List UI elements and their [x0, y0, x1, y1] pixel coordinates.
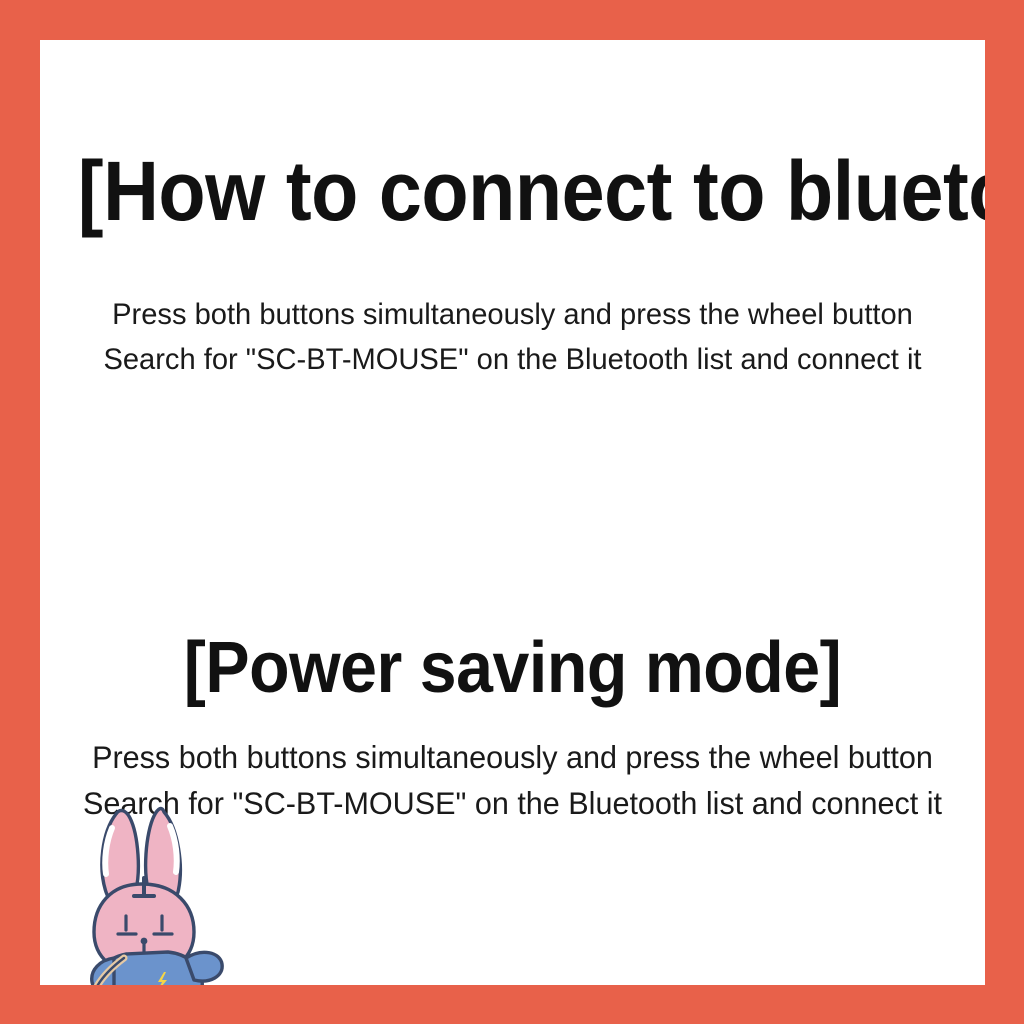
instruction-card: [How to connect to bluetooth] Press both…: [40, 40, 985, 985]
section-1-line-2: Search for "SC-BT-MOUSE" on the Bluetoot…: [54, 337, 971, 382]
rabbit-mascot-icon: [52, 792, 252, 985]
section-1-body: Press both buttons simultaneously and pr…: [54, 292, 971, 382]
section-2-line-1: Press both buttons simultaneously and pr…: [54, 734, 971, 780]
rabbit-right-arm: [186, 952, 222, 981]
section-1-line-1: Press both buttons simultaneously and pr…: [54, 292, 971, 337]
section-1-heading: [How to connect to bluetooth]: [78, 145, 947, 237]
rabbit-nose: [141, 938, 148, 945]
section-2-heading: [Power saving mode]: [78, 628, 947, 708]
